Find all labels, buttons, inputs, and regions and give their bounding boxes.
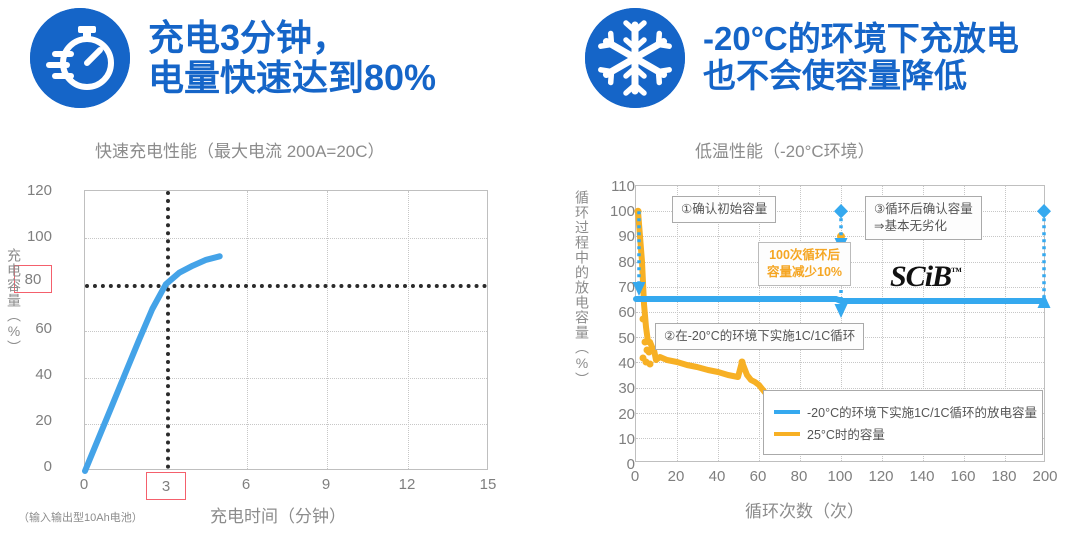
callout-after-cycles: ③循环后确认容量 ⇒基本无劣化 [865, 196, 982, 240]
fast-charge-footnote: （输入输出型10Ah电池） [18, 509, 143, 525]
scib-tm: ™ [951, 266, 961, 278]
x-tick-40: 40 [697, 468, 737, 485]
y-tick-20: 20 [595, 406, 635, 423]
y-tick-120: 120 [8, 182, 52, 199]
y-tick-10: 10 [595, 431, 635, 448]
heading-line-2: 电量快速达到80% [148, 58, 436, 98]
x-tick-15: 15 [468, 476, 508, 493]
callout-capacity-drop: 100次循环后 容量减少10% [758, 242, 851, 286]
callout-initial-capacity: ①确认初始容量 [672, 196, 776, 223]
stopwatch-icon [30, 8, 130, 108]
x-tick-200: 200 [1025, 468, 1065, 485]
y-tick-60: 60 [595, 304, 635, 321]
fast-charge-panel: 充电3分钟， 电量快速达到80% 快速充电性能（最大电流 200A=20C） 1… [0, 0, 540, 539]
x-tick-20: 20 [656, 468, 696, 485]
x-tick-60: 60 [738, 468, 778, 485]
snowflake-icon [585, 8, 685, 108]
fast-charge-curve [85, 191, 489, 471]
x-tick-120: 120 [861, 468, 901, 485]
callout-capacity-drop-line1: 100次循环后 [767, 247, 842, 264]
x-tick-140: 140 [902, 468, 942, 485]
fast-charge-heading: 充电3分钟， 电量快速达到80% [148, 18, 436, 99]
low-temp-header: -20°C的环境下充放电 也不会使容量降低 [585, 8, 1019, 108]
y-tick-110: 110 [595, 178, 635, 195]
fast-charge-header: 充电3分钟， 电量快速达到80% [30, 8, 436, 108]
low-temp-x-axis-label: 循环次数（次） [745, 497, 864, 522]
x-tick-0: 0 [64, 476, 104, 493]
heading-line-1: 充电3分钟， [148, 17, 348, 58]
x-tick-180: 180 [984, 468, 1024, 485]
x-tick-12: 12 [387, 476, 427, 493]
y-tick-100: 100 [595, 203, 635, 220]
x-tick-80: 80 [779, 468, 819, 485]
x-tick-160: 160 [943, 468, 983, 485]
low-temp-legend: -20°C的环境下实施1C/1C循环的放电容量 25°C时的容量 [763, 390, 1043, 455]
x-tick-9: 9 [306, 476, 346, 493]
scib-brand-mark: SCiB™ [890, 260, 961, 294]
heading-line-2: 也不会使容量降低 [703, 58, 1019, 95]
y-tick-100: 100 [8, 228, 52, 245]
y-tick-0: 0 [8, 458, 52, 475]
x-highlight-3: 3 [146, 472, 186, 500]
x-tick-0: 0 [615, 468, 655, 485]
y-tick-30: 30 [595, 380, 635, 397]
y-tick-20: 20 [8, 412, 52, 429]
legend-label-room: 25°C时的容量 [807, 424, 885, 443]
heading-line-1: -20°C的环境下充放电 [703, 20, 1019, 57]
legend-swatch-orange [774, 432, 800, 436]
legend-label-cold: -20°C的环境下实施1C/1C循环的放电容量 [807, 402, 1037, 421]
low-temp-y-axis-label: 循环过程中的放电容量（%） [572, 190, 592, 387]
y-tick-40: 40 [595, 355, 635, 372]
y-tick-50: 50 [595, 330, 635, 347]
legend-item-room: 25°C时的容量 [774, 424, 1032, 443]
y-tick-90: 90 [595, 228, 635, 245]
y-tick-40: 40 [8, 366, 52, 383]
legend-item-cold: -20°C的环境下实施1C/1C循环的放电容量 [774, 402, 1032, 421]
x-tick-6: 6 [226, 476, 266, 493]
callout-after-cycles-line1: ③循环后确认容量 [874, 201, 973, 218]
x-tick-100: 100 [820, 468, 860, 485]
y-tick-70: 70 [595, 279, 635, 296]
low-temp-panel: -20°C的环境下充放电 也不会使容量降低 低温性能（-20°C环境） 循环过程… [540, 0, 1080, 539]
fast-charge-plot [84, 190, 488, 470]
low-temp-heading: -20°C的环境下充放电 也不会使容量降低 [703, 21, 1019, 95]
fast-charge-chart-title: 快速充电性能（最大电流 200A=20C） [95, 137, 385, 162]
callout-after-cycles-line2: ⇒基本无劣化 [874, 218, 973, 235]
callout-capacity-drop-line2: 容量减少10% [767, 264, 842, 281]
callout-cold-cycling: ②在-20°C的环境下实施1C/1C循环 [655, 323, 864, 350]
legend-swatch-blue [774, 410, 800, 414]
y-tick-80: 80 [595, 254, 635, 271]
fast-charge-y-axis-label: 充电容量（%） [4, 248, 24, 355]
scib-text: SCiB [890, 260, 951, 293]
fast-charge-x-axis-label: 充电时间（分钟） [210, 502, 346, 527]
low-temp-chart-title: 低温性能（-20°C环境） [695, 137, 875, 162]
